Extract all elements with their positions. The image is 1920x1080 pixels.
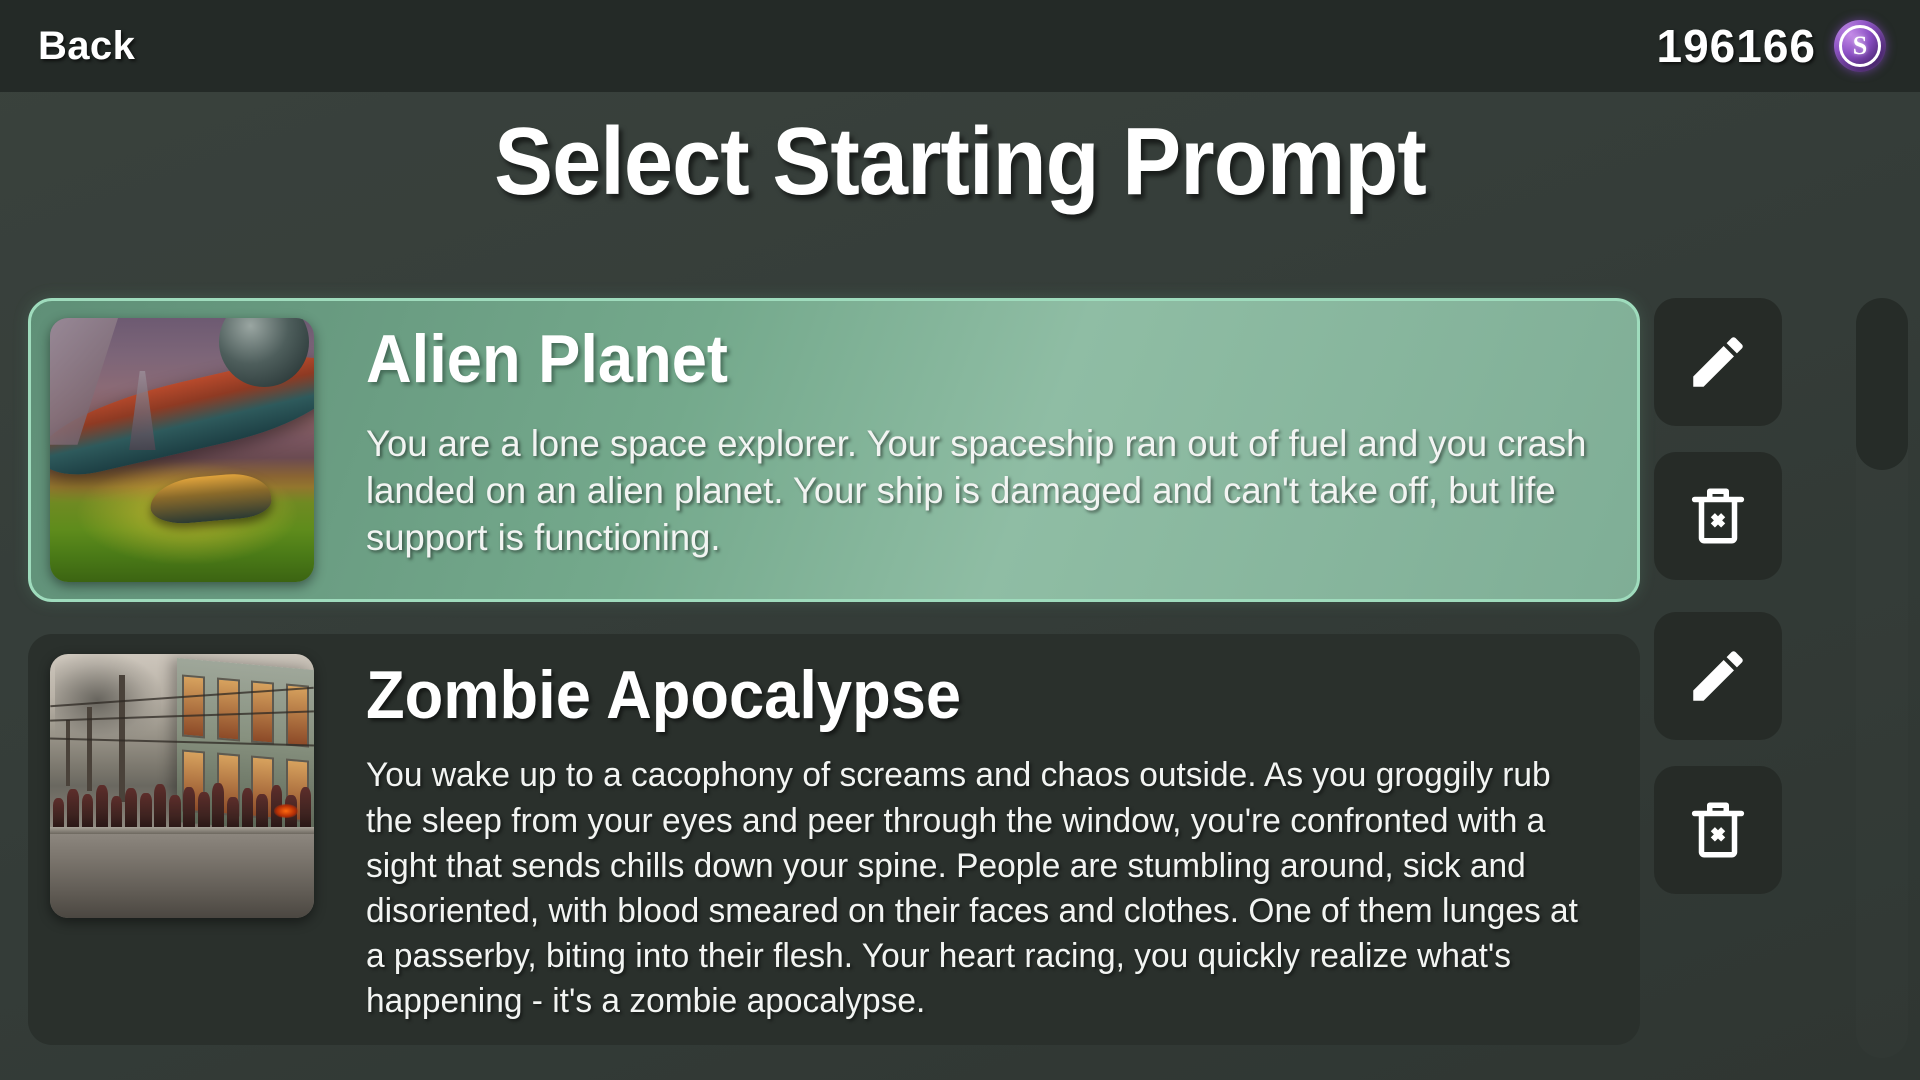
thumb-spire xyxy=(129,371,155,450)
score-value: 196166 xyxy=(1657,23,1817,69)
prompt-title: Zombie Apocalypse xyxy=(366,660,1529,731)
page-title: Select Starting Prompt xyxy=(77,112,1843,213)
prompt-list: Alien Planet You are a lone space explor… xyxy=(28,298,1640,1045)
alien-planet-thumbnail-art xyxy=(50,318,314,582)
thumb-crashed-ship xyxy=(149,471,274,526)
prompt-actions-zombie-apocalypse xyxy=(1654,612,1870,894)
back-button[interactable]: Back xyxy=(38,26,135,66)
top-bar: Back 196166 S xyxy=(0,0,1920,92)
score-display: 196166 S xyxy=(1657,20,1887,72)
delete-prompt-button[interactable] xyxy=(1654,766,1782,894)
prompt-card-alien-planet[interactable]: Alien Planet You are a lone space explor… xyxy=(28,298,1640,602)
thumb-ember xyxy=(274,804,298,817)
prompt-description: You wake up to a cacophony of screams an… xyxy=(366,753,1597,1024)
prompt-title: Alien Planet xyxy=(366,324,1529,395)
prompt-actions-column xyxy=(1654,298,1870,894)
soul-coin-letter: S xyxy=(1853,33,1867,59)
prompt-card-body: Zombie Apocalypse You wake up to a cacop… xyxy=(314,654,1616,1025)
edit-prompt-button[interactable] xyxy=(1654,612,1782,740)
prompt-description: You are a lone space explorer. Your spac… xyxy=(366,421,1597,561)
delete-prompt-button[interactable] xyxy=(1654,452,1782,580)
prompt-card-body: Alien Planet You are a lone space explor… xyxy=(314,318,1616,561)
edit-prompt-button[interactable] xyxy=(1654,298,1782,426)
soul-coin-icon: S xyxy=(1834,20,1886,72)
edit-icon xyxy=(1685,643,1751,709)
thumb-smoke xyxy=(55,654,161,738)
thumb-zombie-horde xyxy=(50,768,314,831)
zombie-apocalypse-thumbnail-art xyxy=(50,654,314,918)
thumb-road xyxy=(50,831,314,918)
delete-icon xyxy=(1685,797,1751,863)
prompt-thumbnail xyxy=(50,318,314,582)
scrollbar-track[interactable] xyxy=(1856,298,1908,1058)
prompt-thumbnail xyxy=(50,654,314,918)
scrollbar-thumb[interactable] xyxy=(1856,298,1908,470)
prompt-actions-alien-planet xyxy=(1654,298,1870,580)
prompt-card-zombie-apocalypse[interactable]: Zombie Apocalypse You wake up to a cacop… xyxy=(28,634,1640,1045)
edit-icon xyxy=(1685,329,1751,395)
delete-icon xyxy=(1685,483,1751,549)
